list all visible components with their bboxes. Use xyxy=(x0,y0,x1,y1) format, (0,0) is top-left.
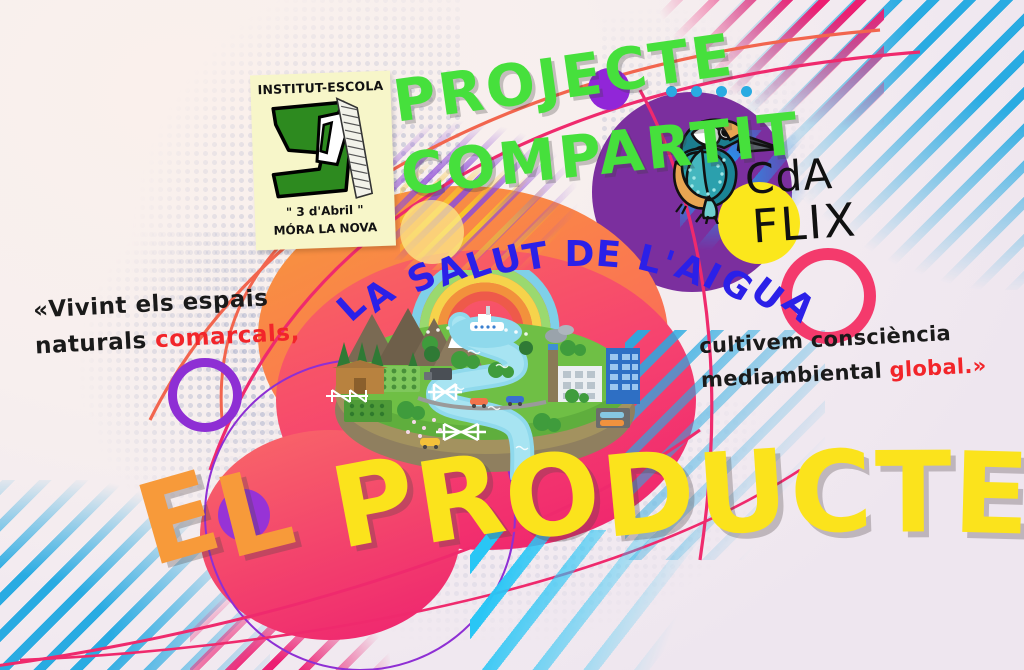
quote-right-line2-text: mediambiental xyxy=(700,358,890,392)
bottom-title-char: T xyxy=(874,428,953,558)
subtitle-char: D xyxy=(564,234,596,275)
office-building-icon xyxy=(606,348,640,404)
quote-right: cultivem consciència mediambiental globa… xyxy=(698,314,1011,397)
school-logo-card: INSTITUT-ESCOLA " 3 d'Abril " MÓRA LA NO… xyxy=(250,71,396,251)
quote-right-highlight: global.» xyxy=(889,353,987,382)
bottom-title-char: C xyxy=(788,427,877,560)
quote-left: «Vivint els espais naturals comarcals, xyxy=(32,278,325,364)
subtitle-la-salut-de-laigua: LA SALUT DE L'AIGUA xyxy=(340,234,813,275)
parking-icon xyxy=(596,408,630,428)
quote-left-line2-text: naturals xyxy=(34,327,155,359)
poster-canvas: INSTITUT-ESCOLA " 3 d'Abril " MÓRA LA NO… xyxy=(0,0,1024,670)
quote-left-highlight: comarcals, xyxy=(154,319,300,353)
bottom-title-char: U xyxy=(693,426,794,562)
bottom-title-char: O xyxy=(497,426,610,567)
bottom-title-char: D xyxy=(596,425,703,564)
subtitle-char xyxy=(548,234,566,276)
purple-ring xyxy=(168,358,242,432)
school-logo-numeral-icon xyxy=(257,93,389,209)
bottom-title-char: E xyxy=(951,429,1024,561)
bottom-title: EL PRODUCTE FINAL xyxy=(140,440,1024,570)
